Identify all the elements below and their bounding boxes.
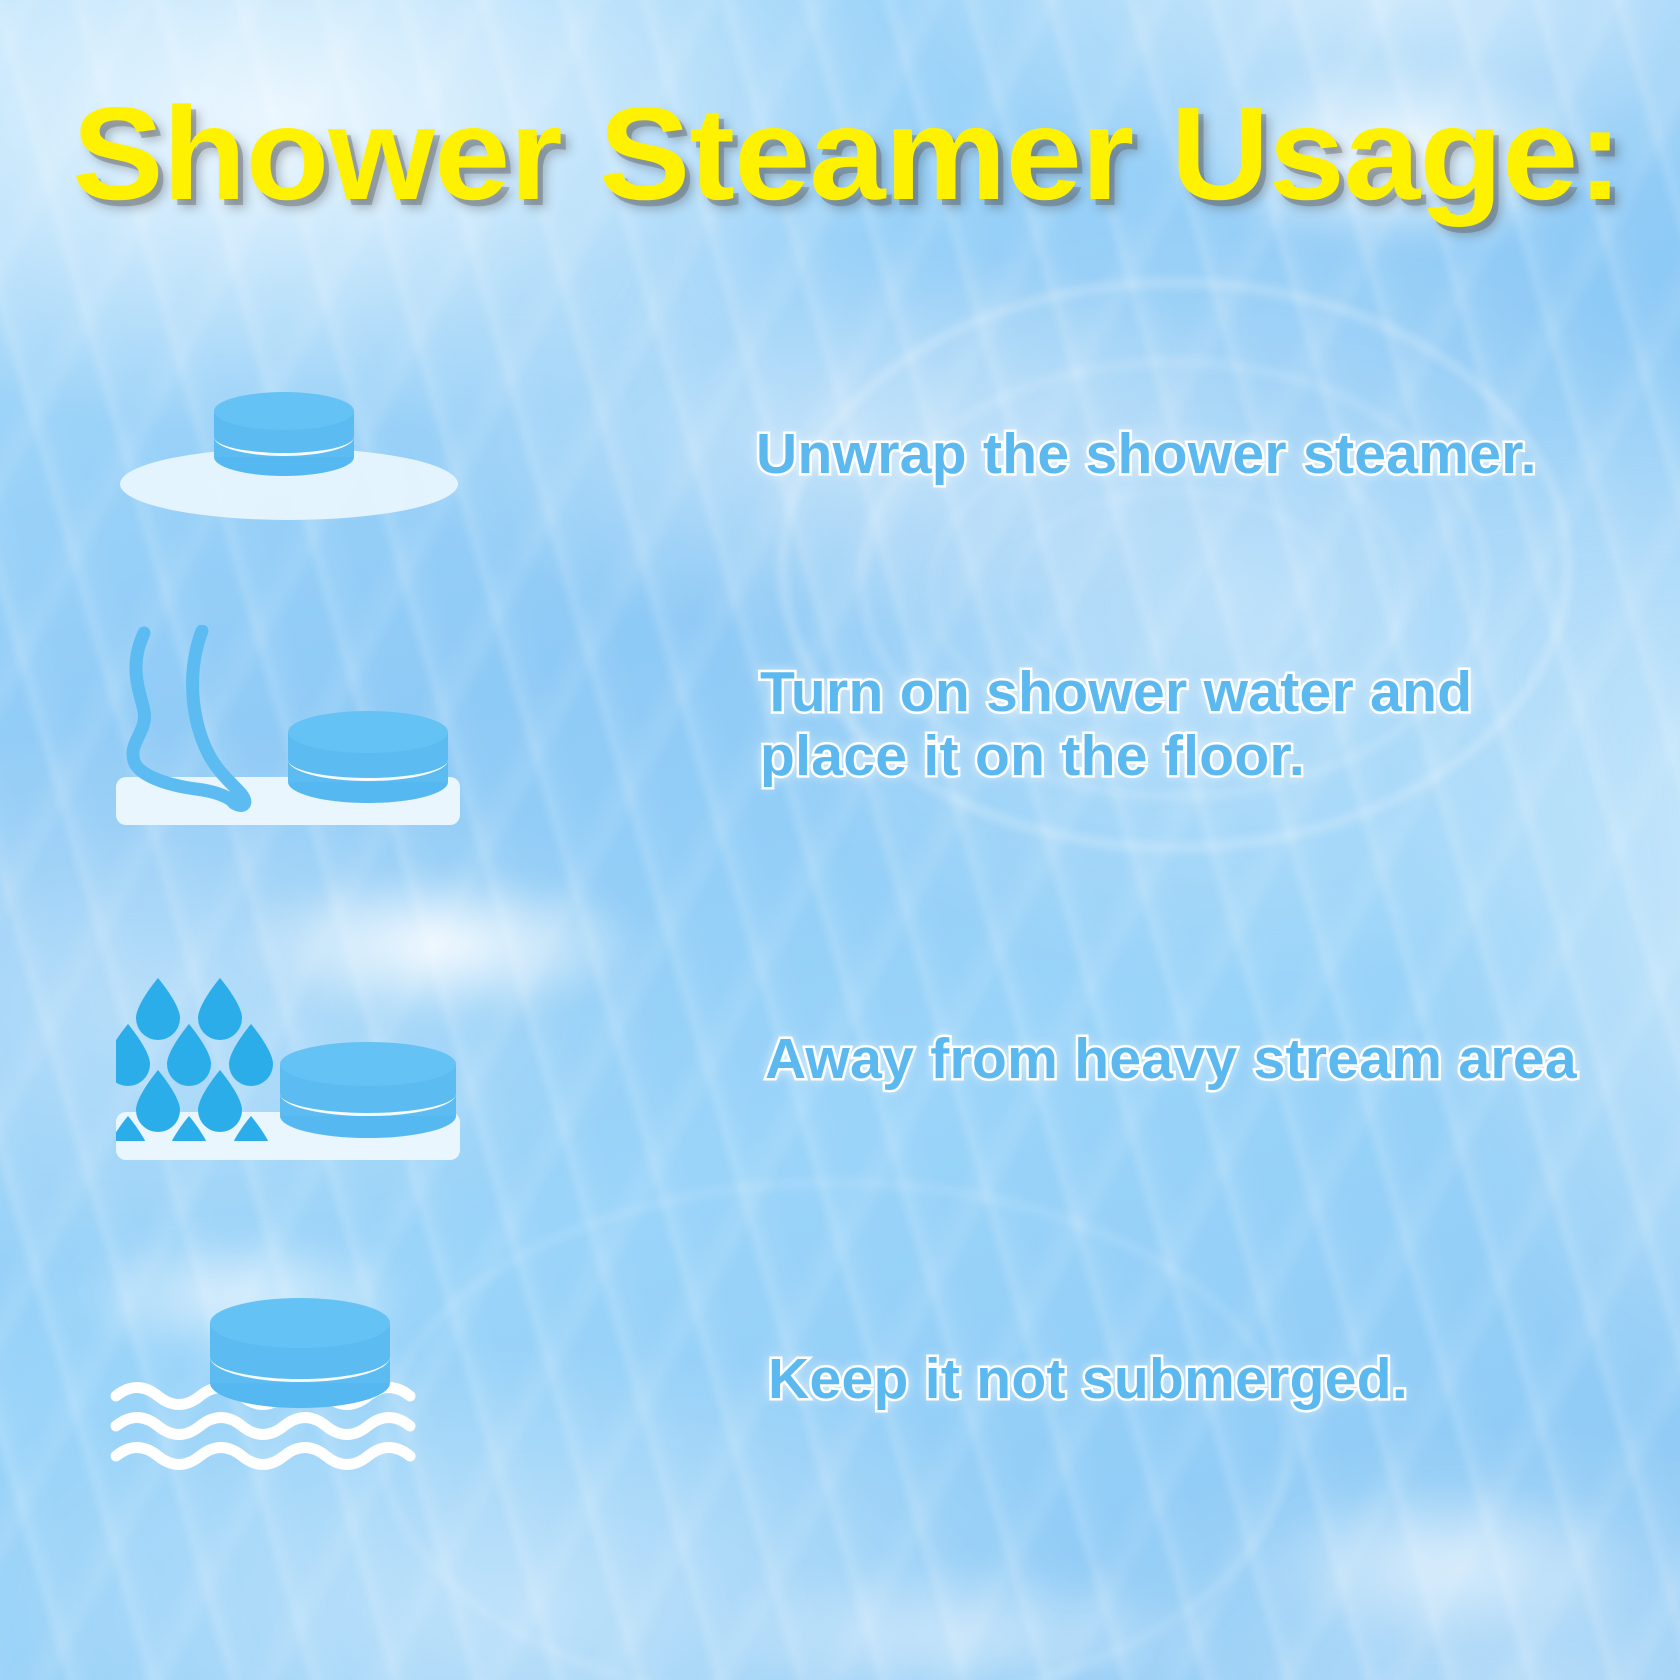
usage-step-3: Away from heavy stream area: [110, 960, 1577, 1160]
steamer-puck-shape: [214, 392, 354, 476]
steamer-puck-shape: [280, 1042, 456, 1138]
steamer-puck-shape: [288, 711, 448, 803]
step-3-caption: Away from heavy stream area: [765, 1028, 1577, 1092]
step-1-caption: Unwrap the shower steamer.: [756, 423, 1537, 487]
puck-rim-line: [280, 1072, 456, 1116]
step-4-caption: Keep it not submerged.: [768, 1348, 1408, 1412]
infographic-canvas: Shower Steamer Usage: Unwrap the shower …: [0, 0, 1680, 1680]
water-droplets-icon: [116, 966, 306, 1141]
puck-rim-line: [214, 418, 354, 456]
steamer-puck-shape: [210, 1298, 390, 1408]
usage-step-1: Unwrap the shower steamer.: [120, 390, 1537, 520]
foot-beside-steamer-on-floor-icon: [110, 625, 460, 825]
page-title: Shower Steamer Usage:: [72, 88, 1674, 220]
steamer-floating-above-waves-icon: [110, 1290, 450, 1470]
puck-rim-line: [210, 1332, 390, 1382]
water-highlight: [1250, 1480, 1650, 1650]
usage-step-2: Turn on shower water and place it on the…: [110, 625, 1472, 825]
puck-rim-line: [288, 739, 448, 781]
shower-steamer-puck-on-wrapper-icon: [120, 390, 460, 520]
water-droplets-beside-steamer-icon: [110, 960, 460, 1160]
step-2-caption: Turn on shower water and place it on the…: [760, 661, 1472, 789]
usage-step-4: Keep it not submerged.: [110, 1290, 1408, 1470]
foot-outline-icon: [110, 625, 310, 815]
